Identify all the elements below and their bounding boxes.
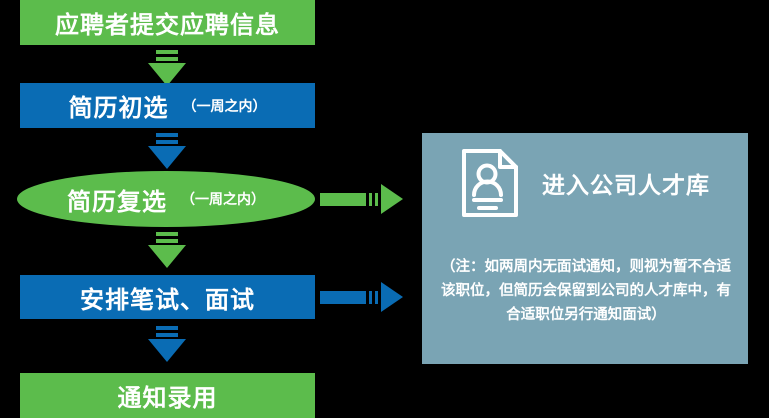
flow-node-second-screen-duration: （一周之内）: [181, 189, 265, 209]
flow-node-notify-hire[interactable]: 通知录用: [20, 373, 315, 418]
flow-node-second-screen[interactable]: 简历复选 （一周之内）: [17, 171, 315, 227]
arrow-head-down-icon: [148, 339, 186, 362]
talent-pool-panel[interactable]: 进入公司人才库 （注：如两周内无面试通知，则视为暂不合适该职位，但简历会保留到公…: [422, 133, 748, 364]
arrow-stripe-top: [156, 326, 178, 330]
arrow-notch-2: [375, 291, 378, 304]
flow-node-first-screen-duration: （一周之内）: [183, 96, 267, 116]
flow-node-notify-hire-label: 通知录用: [118, 378, 218, 413]
connector-arrange-test-to-notify-hire: [148, 326, 186, 362]
arrow-shaft: [320, 291, 366, 304]
connector-second-screen-to-talent-pool: [320, 184, 403, 214]
arrow-shaft: [320, 193, 366, 206]
flow-node-submit-label: 应聘者提交应聘信息: [55, 5, 280, 40]
flow-node-first-screen[interactable]: 简历初选 （一周之内）: [20, 83, 315, 128]
flowchart-canvas: 应聘者提交应聘信息 简历初选 （一周之内） 简历复选 （一周之内） 安排笔试、面…: [0, 0, 769, 418]
connector-submit-to-first-screen: [148, 50, 186, 86]
arrow-stripe-bottom: [156, 239, 178, 243]
arrow-stripe-top: [156, 133, 178, 137]
arrow-notch-2: [375, 193, 378, 206]
arrow-stripe-bottom: [156, 333, 178, 337]
flow-node-second-screen-label: 简历复选: [67, 182, 167, 217]
arrow-stripe-bottom: [156, 140, 178, 144]
talent-pool-note: （注：如两周内无面试通知，则视为暂不合适该职位，但简历会保留到公司的人才库中，有…: [440, 255, 732, 327]
talent-pool-header: 进入公司人才库: [422, 147, 748, 219]
arrow-head-down-icon: [148, 245, 186, 268]
arrow-head-right-icon: [381, 184, 403, 214]
document-person-icon: [460, 147, 520, 219]
arrow-stripe-bottom: [156, 57, 178, 61]
arrow-notch-1: [369, 291, 372, 304]
connector-second-screen-to-arrange-test: [148, 232, 186, 268]
arrow-head-right-icon: [381, 282, 403, 312]
arrow-stripe-top: [156, 232, 178, 236]
flow-node-first-screen-label: 简历初选: [69, 88, 169, 123]
arrow-stripe-top: [156, 50, 178, 54]
flow-node-arrange-test-label: 安排笔试、面试: [80, 280, 255, 315]
connector-first-screen-to-second-screen: [148, 133, 186, 169]
talent-pool-title: 进入公司人才库: [542, 166, 710, 200]
flow-node-submit[interactable]: 应聘者提交应聘信息: [20, 0, 315, 45]
arrow-head-down-icon: [148, 146, 186, 169]
flow-node-arrange-test[interactable]: 安排笔试、面试: [20, 275, 315, 319]
arrow-notch-1: [369, 193, 372, 206]
connector-arrange-test-to-talent-pool: [320, 282, 403, 312]
